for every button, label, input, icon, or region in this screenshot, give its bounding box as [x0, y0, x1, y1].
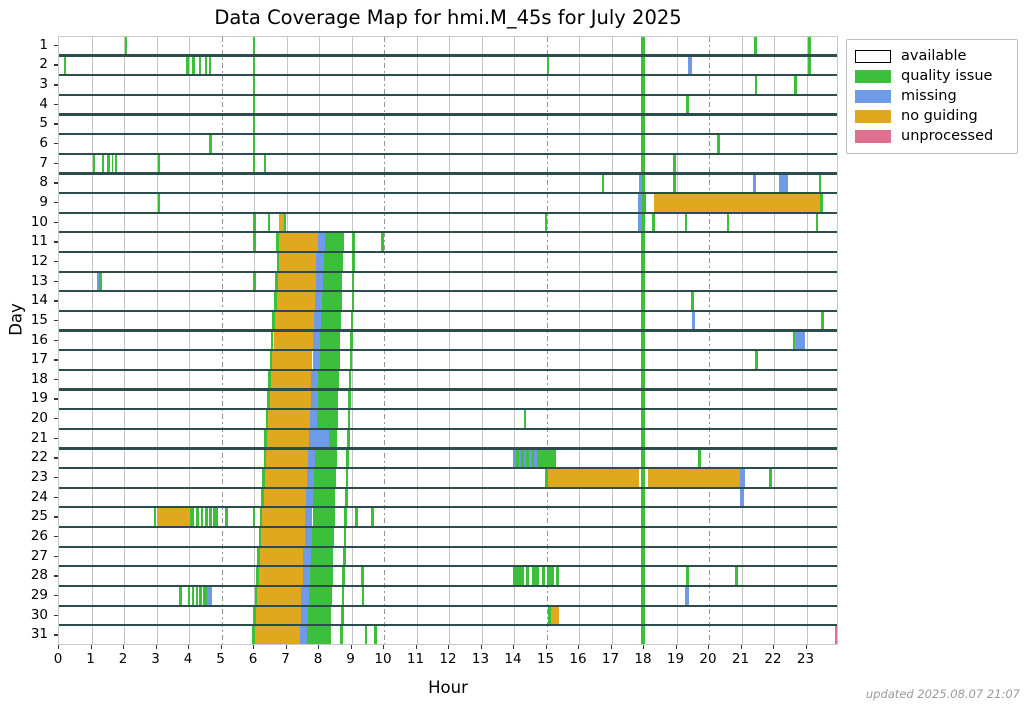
x-tick — [448, 645, 449, 649]
y-tick-label: 13 — [2, 273, 48, 289]
x-tick-label: 12 — [439, 651, 456, 667]
legend-item[interactable]: available — [855, 46, 1009, 66]
y-tick — [54, 163, 58, 164]
x-tick — [188, 645, 189, 649]
y-tick-label: 20 — [2, 410, 48, 426]
legend-label: unprocessed — [901, 128, 993, 144]
y-tick-label: 23 — [2, 469, 48, 485]
y-tick — [54, 556, 58, 557]
y-tick — [54, 536, 58, 537]
y-tick — [54, 340, 58, 341]
y-tick — [54, 615, 58, 616]
y-tick — [54, 418, 58, 419]
y-tick-label: 27 — [2, 548, 48, 564]
y-tick — [54, 359, 58, 360]
y-tick — [54, 438, 58, 439]
x-tick — [773, 645, 774, 649]
y-tick-label: 22 — [2, 449, 48, 465]
coverage-segment — [340, 626, 343, 645]
legend-item[interactable]: no guiding — [855, 106, 1009, 126]
y-tick — [54, 202, 58, 203]
y-tick-label: 24 — [2, 489, 48, 505]
y-tick — [54, 398, 58, 399]
y-tick — [54, 516, 58, 517]
y-tick-label: 29 — [2, 587, 48, 603]
coverage-map-figure: Data Coverage Map for hmi.M_45s for July… — [0, 0, 1028, 711]
legend-swatch-missing — [855, 90, 891, 103]
legend-item[interactable]: missing — [855, 86, 1009, 106]
x-tick — [156, 645, 157, 649]
x-tick — [546, 645, 547, 649]
x-tick-label: 10 — [374, 651, 391, 667]
legend-swatch-unprocessed — [855, 130, 891, 143]
x-tick-label: 20 — [699, 651, 716, 667]
x-tick — [383, 645, 384, 649]
x-tick-label: 9 — [346, 651, 355, 667]
x-tick-label: 14 — [504, 651, 521, 667]
x-tick — [318, 645, 319, 649]
legend-swatch-quality-issue — [855, 70, 891, 83]
x-tick-label: 2 — [119, 651, 128, 667]
y-tick-label: 12 — [2, 253, 48, 269]
y-tick — [54, 457, 58, 458]
y-tick-label: 18 — [2, 371, 48, 387]
y-tick — [54, 379, 58, 380]
legend-swatch-available — [855, 50, 891, 63]
y-tick-label: 2 — [2, 56, 48, 72]
x-tick — [643, 645, 644, 649]
legend: availablequality issuemissingno guidingu… — [846, 39, 1018, 154]
coverage-segment — [365, 626, 368, 645]
x-tick-label: 11 — [407, 651, 424, 667]
x-tick-label: 1 — [86, 651, 95, 667]
x-tick-label: 8 — [314, 651, 323, 667]
x-tick-label: 23 — [797, 651, 814, 667]
x-tick — [741, 645, 742, 649]
y-tick-label: 26 — [2, 528, 48, 544]
x-tick-label: 3 — [151, 651, 160, 667]
y-tick-label: 8 — [2, 174, 48, 190]
y-tick-label: 4 — [2, 96, 48, 112]
x-tick-label: 15 — [537, 651, 554, 667]
y-tick-label: 6 — [2, 135, 48, 151]
x-axis-label: Hour — [58, 678, 838, 697]
y-tick-label: 1 — [2, 37, 48, 53]
y-tick-label: 25 — [2, 508, 48, 524]
y-tick — [54, 45, 58, 46]
y-tick — [54, 575, 58, 576]
y-tick — [54, 634, 58, 635]
x-tick — [676, 645, 677, 649]
y-tick — [54, 477, 58, 478]
y-tick — [54, 595, 58, 596]
y-tick-label: 21 — [2, 430, 48, 446]
plot-area — [58, 36, 838, 645]
x-tick — [286, 645, 287, 649]
legend-label: available — [901, 48, 966, 64]
y-tick-label: 9 — [2, 194, 48, 210]
coverage-segment — [374, 626, 377, 645]
x-tick-label: 16 — [569, 651, 586, 667]
x-tick — [221, 645, 222, 649]
coverage-segment — [835, 626, 838, 645]
y-tick — [54, 182, 58, 183]
x-tick — [351, 645, 352, 649]
y-tick-label: 10 — [2, 214, 48, 230]
x-tick-label: 0 — [54, 651, 63, 667]
legend-label: quality issue — [901, 68, 992, 84]
y-tick — [54, 84, 58, 85]
coverage-segment — [300, 626, 307, 645]
y-tick-label: 30 — [2, 607, 48, 623]
y-axis-label: Day — [7, 290, 26, 350]
coverage-segment — [641, 626, 644, 645]
x-tick-label: 4 — [184, 651, 193, 667]
legend-label: no guiding — [901, 108, 978, 124]
x-tick-label: 5 — [216, 651, 225, 667]
legend-label: missing — [901, 88, 957, 104]
x-tick-label: 13 — [472, 651, 489, 667]
x-tick — [58, 645, 59, 649]
y-tick-label: 28 — [2, 567, 48, 583]
x-tick — [578, 645, 579, 649]
coverage-segment — [307, 626, 330, 645]
x-tick — [91, 645, 92, 649]
y-tick — [54, 143, 58, 144]
y-tick — [54, 281, 58, 282]
y-tick-label: 17 — [2, 351, 48, 367]
page-title: Data Coverage Map for hmi.M_45s for July… — [58, 6, 838, 29]
x-tick — [481, 645, 482, 649]
legend-swatch-no-guiding — [855, 110, 891, 123]
y-tick-label: 5 — [2, 115, 48, 131]
x-tick — [416, 645, 417, 649]
y-tick-label: 31 — [2, 626, 48, 642]
x-tick — [611, 645, 612, 649]
y-tick — [54, 261, 58, 262]
x-tick-label: 22 — [764, 651, 781, 667]
x-tick-label: 7 — [281, 651, 290, 667]
x-tick-label: 21 — [732, 651, 749, 667]
legend-item[interactable]: quality issue — [855, 66, 1009, 86]
x-tick-label: 17 — [602, 651, 619, 667]
x-tick — [708, 645, 709, 649]
x-tick-label: 6 — [249, 651, 258, 667]
y-tick-label: 7 — [2, 155, 48, 171]
x-tick — [513, 645, 514, 649]
y-tick — [54, 300, 58, 301]
legend-item[interactable]: unprocessed — [855, 126, 1009, 146]
y-tick — [54, 123, 58, 124]
x-tick-label: 19 — [667, 651, 684, 667]
y-tick — [54, 241, 58, 242]
x-tick — [253, 645, 254, 649]
y-tick — [54, 64, 58, 65]
day-row — [59, 626, 837, 645]
coverage-segment — [255, 626, 301, 645]
x-tick — [806, 645, 807, 649]
y-tick — [54, 104, 58, 105]
y-tick — [54, 222, 58, 223]
y-tick-label: 11 — [2, 233, 48, 249]
y-tick-label: 19 — [2, 390, 48, 406]
x-tick — [123, 645, 124, 649]
y-tick-label: 3 — [2, 76, 48, 92]
updated-timestamp: updated 2025.08.07 21:07 — [866, 687, 1020, 701]
y-tick — [54, 497, 58, 498]
x-tick-label: 18 — [634, 651, 651, 667]
y-tick — [54, 320, 58, 321]
